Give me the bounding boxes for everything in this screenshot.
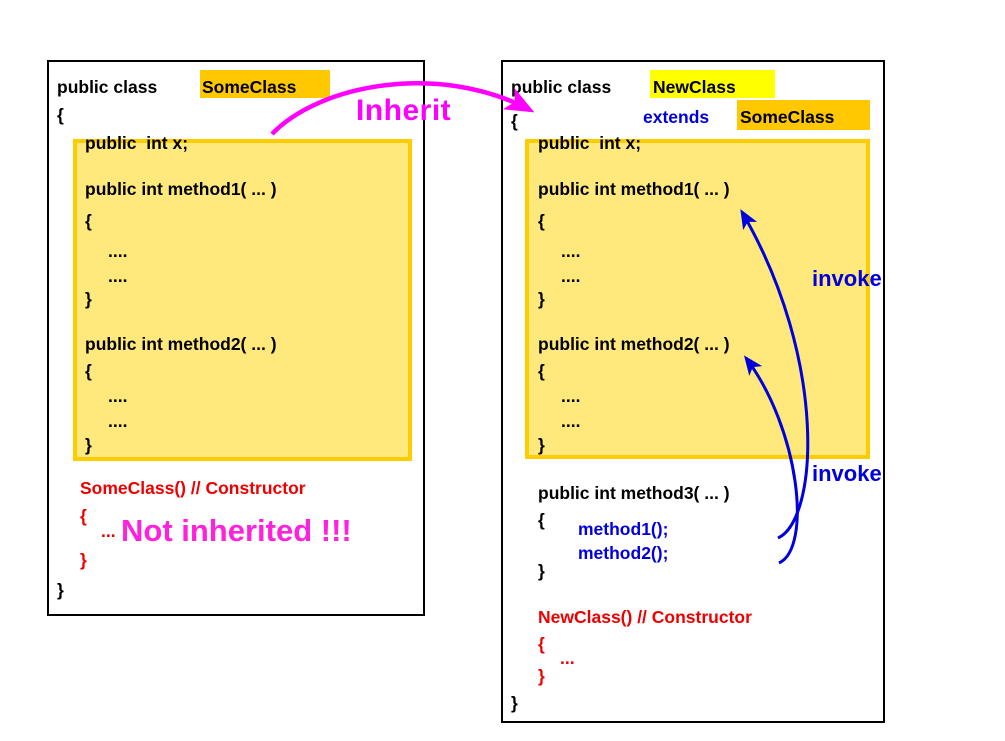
right-member-1: public int method1( ... ) — [538, 181, 730, 199]
right-header-extends-keyword: extends — [643, 109, 709, 127]
left-member-4: .... — [108, 268, 127, 286]
right-member-7: { — [538, 363, 545, 381]
right-member-8: .... — [561, 388, 580, 406]
left-header-class-name: SomeClass — [202, 79, 296, 97]
right-method3-open-brace: { — [538, 512, 545, 530]
label-inherit: Inherit — [356, 96, 451, 126]
right-header-extends-class: SomeClass — [740, 109, 834, 127]
right-method3-call-1: method2(); — [578, 545, 668, 563]
left-member-8: .... — [108, 388, 127, 406]
left-member-5: } — [85, 291, 92, 309]
right-method3-signature: public int method3( ... ) — [538, 485, 730, 503]
right-constructor-close-brace: } — [538, 668, 545, 686]
label-invoke-1: invoke — [812, 268, 882, 290]
right-member-9: .... — [561, 413, 580, 431]
left-member-7: { — [85, 363, 92, 381]
right-member-2: { — [538, 213, 545, 231]
right-member-3: .... — [561, 243, 580, 261]
left-constructor-open-brace: { — [80, 508, 87, 526]
left-constructor-close-brace: } — [80, 552, 87, 570]
right-member-0: public int x; — [538, 135, 641, 153]
left-close-brace: } — [57, 582, 64, 600]
annotation-not-inherited: Not inherited !!! — [121, 515, 352, 546]
right-header-prefix: public class — [511, 79, 616, 97]
left-member-6: public int method2( ... ) — [85, 336, 277, 354]
right-member-10: } — [538, 437, 545, 455]
left-member-10: } — [85, 437, 92, 455]
right-close-brace: } — [511, 695, 518, 713]
left-member-3: .... — [108, 243, 127, 261]
right-header-class-name: NewClass — [653, 79, 736, 97]
right-method3-close-brace: } — [538, 563, 545, 581]
right-constructor-signature: NewClass() // Constructor — [538, 609, 752, 627]
left-header-prefix: public class — [57, 79, 162, 97]
label-invoke-2: invoke — [812, 463, 882, 485]
diagram-canvas: public class SomeClass { public int x; p… — [0, 0, 1005, 741]
right-method3-call-0: method1(); — [578, 521, 668, 539]
left-constructor-body: ... — [101, 523, 116, 541]
right-member-4: .... — [561, 268, 580, 286]
left-member-9: .... — [108, 413, 127, 431]
left-member-0: public int x; — [85, 135, 188, 153]
right-constructor-open-brace: { — [538, 636, 545, 654]
left-member-2: { — [85, 213, 92, 231]
left-constructor-signature: SomeClass() // Constructor — [80, 480, 306, 498]
right-member-5: } — [538, 291, 545, 309]
left-open-brace: { — [57, 107, 64, 125]
right-member-6: public int method2( ... ) — [538, 336, 730, 354]
right-constructor-body: ... — [560, 650, 575, 668]
left-member-1: public int method1( ... ) — [85, 181, 277, 199]
right-open-brace: { — [511, 113, 518, 131]
